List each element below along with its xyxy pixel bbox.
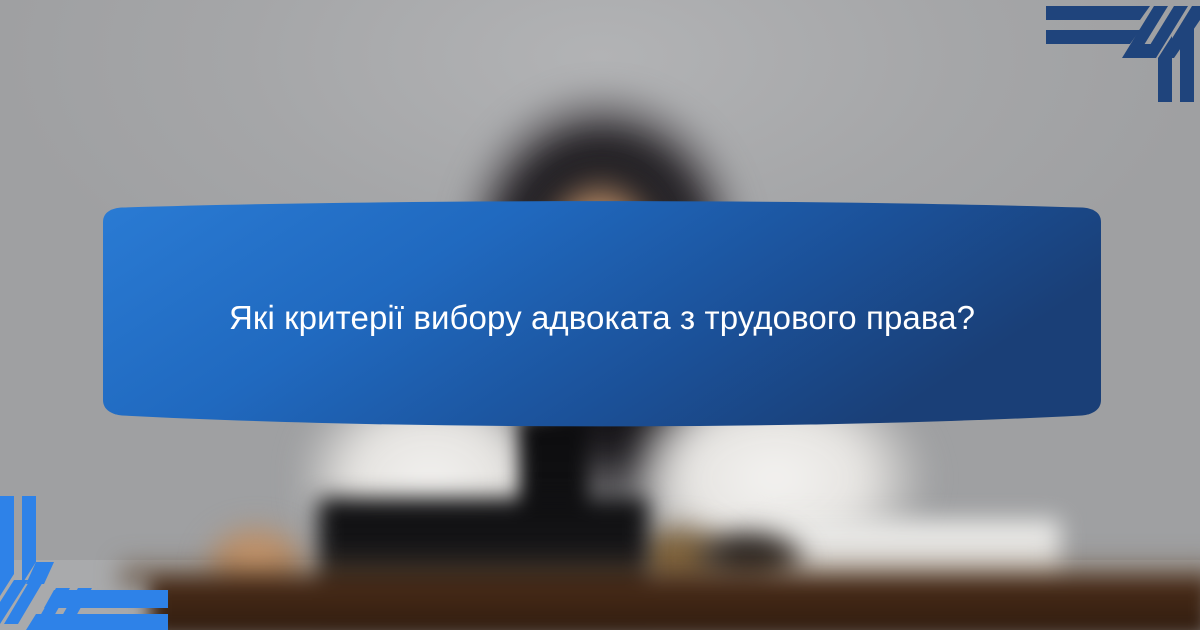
background-desk <box>150 578 1200 630</box>
title-banner-text-area: Які критерії вибору адвоката з трудового… <box>100 200 1104 428</box>
title-banner: Які критерії вибору адвоката з трудового… <box>100 200 1104 428</box>
share-card-canvas: Які критерії вибору адвоката з трудового… <box>0 0 1200 630</box>
page-title: Які критерії вибору адвоката з трудового… <box>229 291 975 345</box>
